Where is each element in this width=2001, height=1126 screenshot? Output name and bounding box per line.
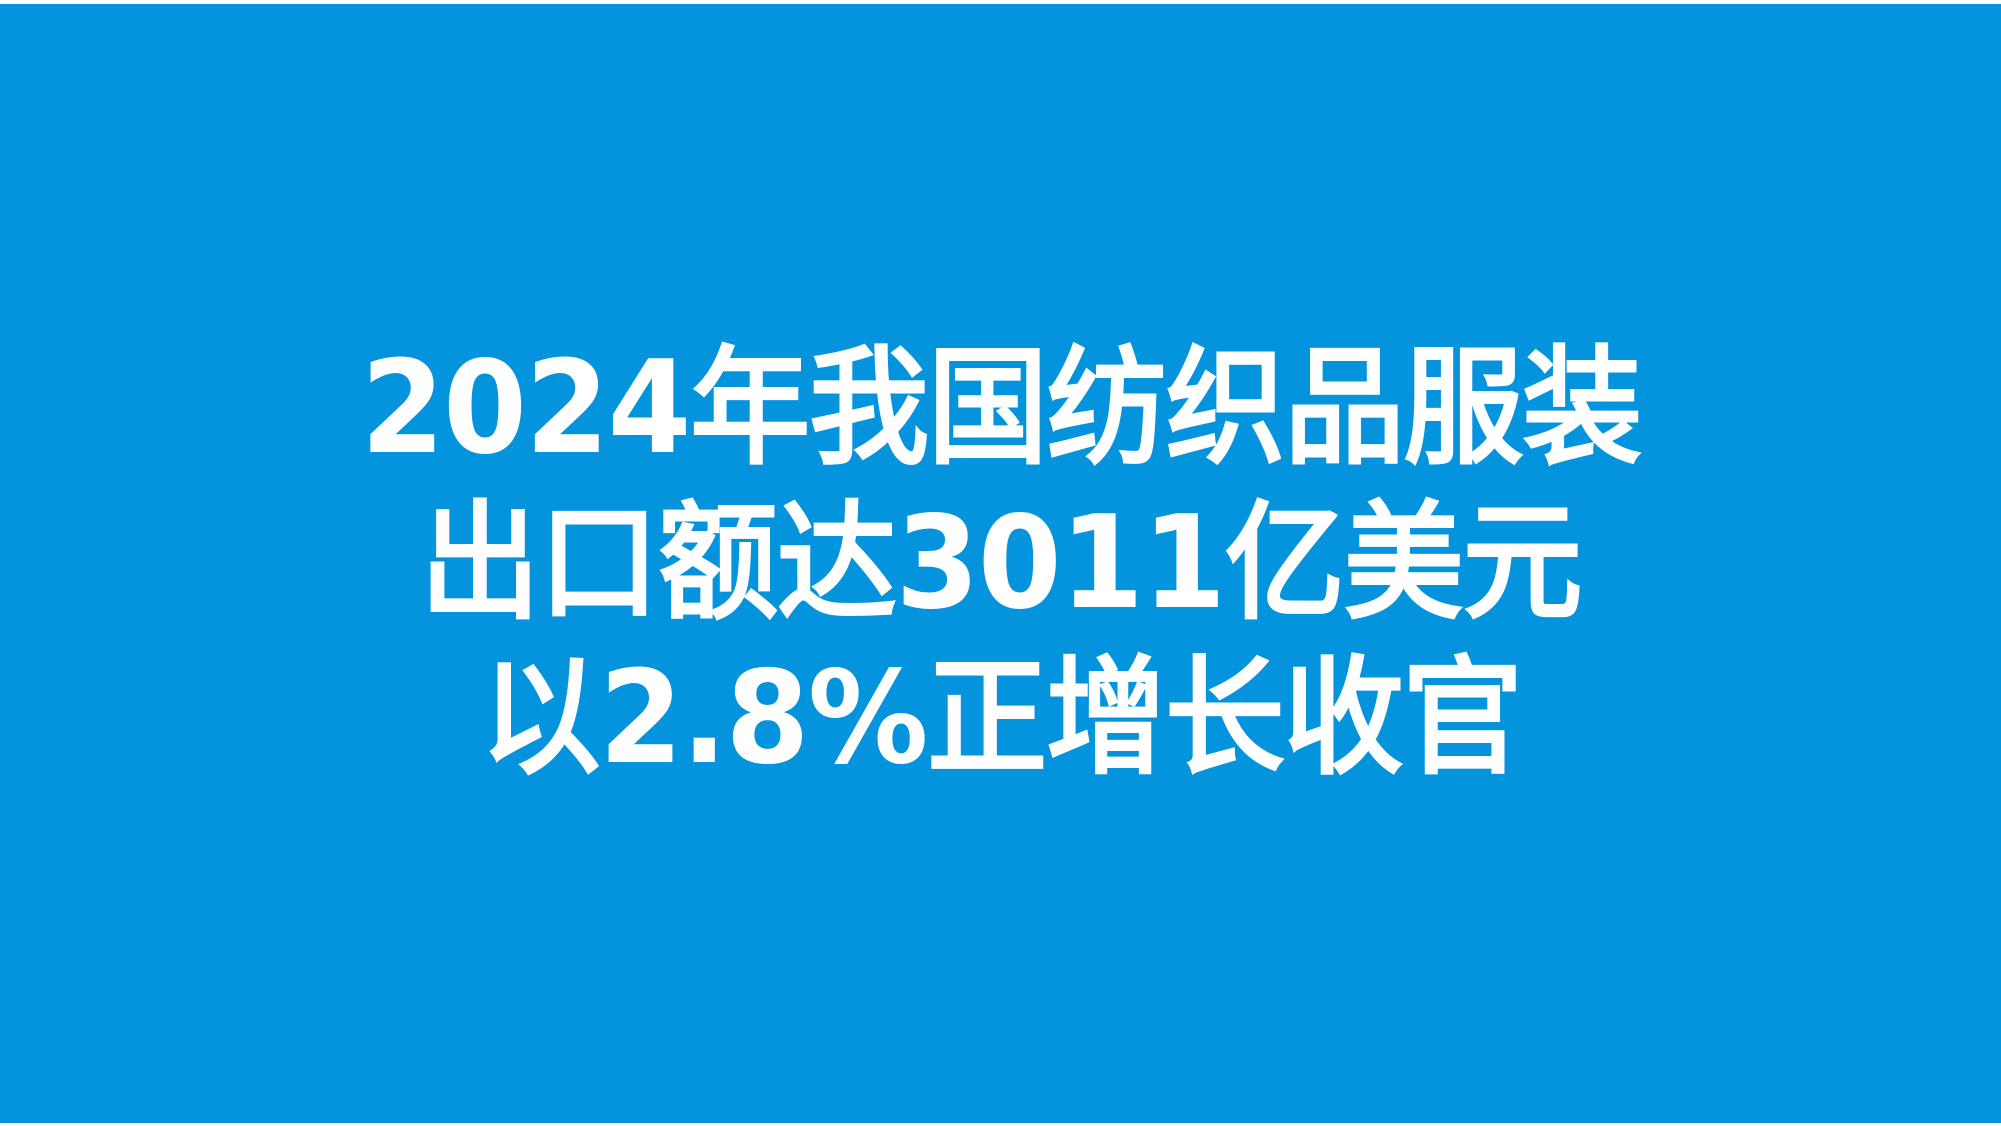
headline-block: 2024年我国纺织品服装 出口额达3011亿美元 以2.8%正增长收官 xyxy=(0,0,2001,1126)
headline-line-1: 2024年我国纺织品服装 xyxy=(360,331,1640,486)
headline-line-3: 以2.8%正增长收官 xyxy=(480,641,1521,796)
headline-line-2: 出口额达3011亿美元 xyxy=(420,486,1581,641)
poster-card: 2024年我国纺织品服装 出口额达3011亿美元 以2.8%正增长收官 xyxy=(0,0,2001,1126)
